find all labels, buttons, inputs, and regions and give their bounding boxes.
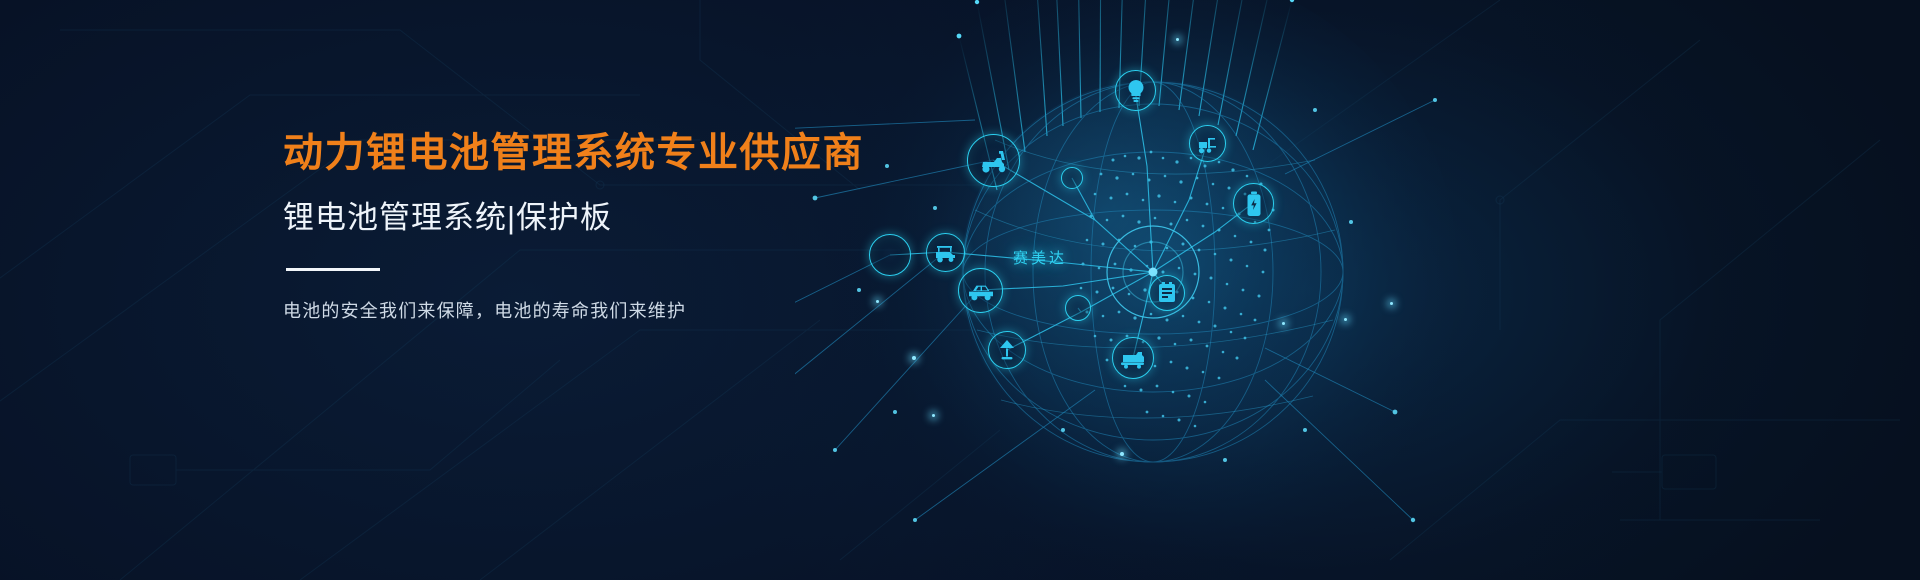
car-icon [967,281,995,301]
car-node [958,268,1003,313]
ambient-dot [876,300,879,303]
lamp-node [988,331,1026,369]
powerpack-node [1149,275,1185,311]
ambient-dot [1120,452,1124,456]
ambient-dot [912,356,916,360]
hero-banner: 动力锂电池管理系统专业供应商 锂电池管理系统|保护板 电池的安全我们来保障，电池… [0,0,1920,580]
power-pack-icon [1158,282,1176,304]
golf-cart-icon [934,243,958,263]
ambient-dot [1390,302,1393,305]
lightbulb-icon [1126,79,1146,103]
golfcart-node [926,233,965,272]
battery-icon [1246,191,1262,217]
ambient-dot [1344,318,1347,321]
empty-node [869,234,911,276]
forklift-icon [1197,134,1219,154]
ambient-dot [1176,38,1179,41]
globe-network-graphic [795,0,1495,580]
scooter-icon [979,148,1009,174]
brandmark-label: 赛美达 [1013,247,1067,268]
ambient-dot [932,414,935,417]
ambient-dot [1282,322,1285,325]
lamp-icon [996,339,1018,361]
forklift-node [1189,125,1226,162]
robot-node [1112,337,1154,379]
bulb-node [1115,70,1156,111]
scooter-node [967,134,1020,187]
robot-icon [1120,347,1146,369]
text-divider-rule [286,268,380,271]
ring-node-b [1065,295,1091,321]
ring-node-a [1061,167,1083,189]
battery-node [1233,183,1274,224]
